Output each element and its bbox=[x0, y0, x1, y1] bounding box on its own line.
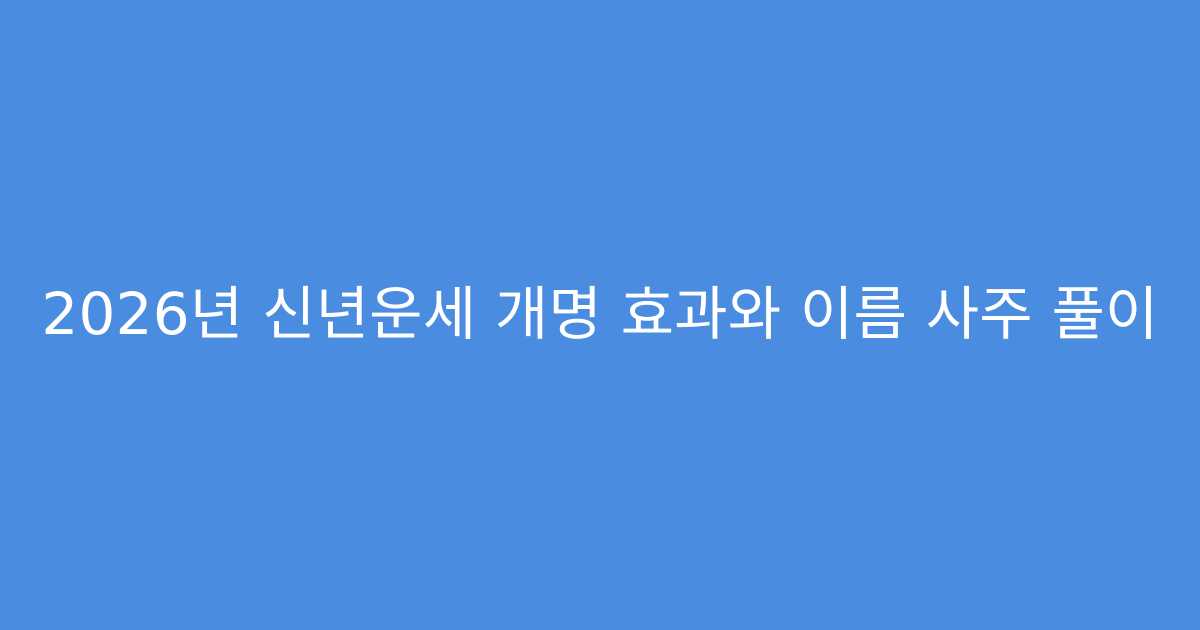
title-container: 2026년 신년운세 개명 효과와 이름 사주 풀이 bbox=[0, 276, 1200, 354]
page-title: 2026년 신년운세 개명 효과와 이름 사주 풀이 bbox=[41, 276, 1158, 354]
share-card: 2026년 신년운세 개명 효과와 이름 사주 풀이 bbox=[0, 0, 1200, 630]
